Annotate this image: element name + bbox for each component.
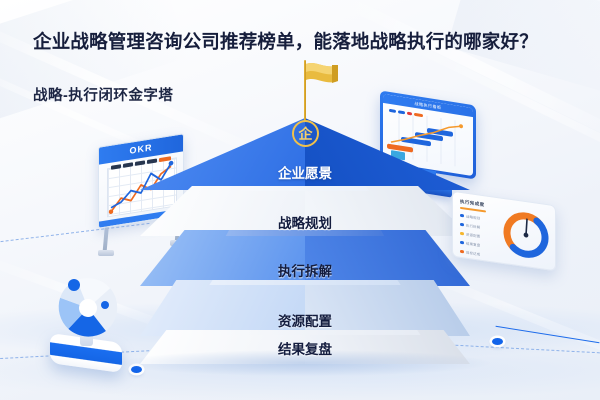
pyramid-level-5-label: 结果复盘 <box>140 338 470 358</box>
pyramid-level-2[interactable]: 战略规划 <box>140 186 470 236</box>
donut-sculpture <box>36 272 140 378</box>
pyramid-level-3-label: 执行拆解 <box>140 260 470 280</box>
enterprise-badge-icon: 企 <box>292 120 319 147</box>
pyramid-level-1-label: 企业愿景 <box>140 162 470 182</box>
connector-node <box>492 338 503 345</box>
poster-canvas: 企业战略管理咨询公司推荐榜单，能落地战略执行的哪家好？ 战略-执行闭环金字塔 O… <box>0 0 600 400</box>
pyramid-level-4-label: 资源配置 <box>140 310 470 330</box>
pyramid-level-2-label: 战略规划 <box>140 212 470 232</box>
pyramid-level-3[interactable]: 执行拆解 <box>140 230 470 286</box>
gauge-legend-item: 结果复盘 <box>460 240 480 248</box>
strategy-pyramid: 企业愿景 企 战略规划 执行拆解 资源配置 <box>140 96 470 364</box>
okr-board-foot <box>98 250 114 256</box>
gauge-legend-item: 目标达成 <box>460 249 480 257</box>
gauge-donut-chart <box>499 204 553 266</box>
gold-flag-icon <box>306 62 344 87</box>
enterprise-badge-label: 企 <box>299 124 313 144</box>
page-title: 企业战略管理咨询公司推荐榜单，能落地战略执行的哪家好？ <box>33 28 573 54</box>
pyramid-level-4[interactable]: 资源配置 <box>140 280 470 336</box>
donut-pie-chart <box>50 272 126 344</box>
